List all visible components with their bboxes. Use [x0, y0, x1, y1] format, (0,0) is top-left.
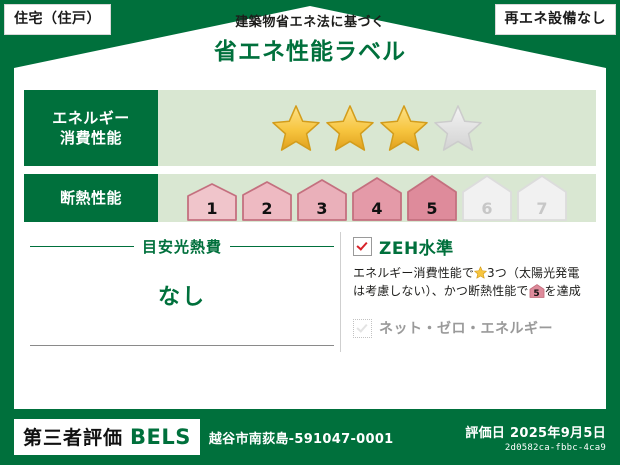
insulation-level-1: 1 [186, 182, 238, 222]
zeh-checkbox[interactable] [353, 237, 372, 256]
evaluation-date-line: 評価日 2025年9月5日 [465, 422, 606, 441]
insulation-performance-label: 断熱性能 [24, 174, 158, 222]
cost-rule-left [30, 246, 134, 247]
zeh-desc-part3: は考慮しない）、かつ断熱性能で [353, 284, 529, 298]
evaluation-id: 2d0582ca-fbbc-4ca9 [465, 443, 606, 453]
star-icon-filled-3 [379, 104, 429, 152]
net-zero-energy-checkbox[interactable] [353, 319, 372, 338]
property-address: 越谷市南荻島-591047-0001 [209, 428, 394, 447]
insulation-level-3: 3 [296, 178, 348, 222]
star-icon-empty-4 [433, 104, 483, 152]
net-zero-energy-row: ネット・ゼロ・エネルギー [353, 318, 592, 338]
renewable-energy-tag: 再エネ設備なし [495, 4, 617, 35]
building-type-tag: 住宅（住戸） [4, 4, 111, 35]
star-icon-filled-2 [325, 104, 375, 152]
bels-badge: 第三者評価 BELS [14, 419, 200, 455]
insulation-level-6: 6 [461, 174, 513, 222]
star-icon-filled-1 [271, 104, 321, 152]
footer-bar: 第三者評価 BELS 越谷市南荻島-591047-0001 評価日 2025年9… [0, 409, 620, 465]
insulation-level-scale: 1 2 3 [186, 174, 568, 222]
evaluation-meta: 評価日 2025年9月5日 2d0582ca-fbbc-4ca9 [465, 422, 606, 453]
star-rating [271, 104, 483, 152]
cost-rule-right [230, 246, 334, 247]
zeh-panel: ZEH水準 エネルギー消費性能で3つ（太陽光発電は考慮しない）、かつ断熱性能で … [340, 232, 596, 352]
evaluation-date-label: 評価日 [465, 426, 505, 441]
bels-logo-text: BELS [130, 425, 191, 449]
zeh-standard-label: ZEH水準 [379, 234, 454, 259]
insulation-badge-inline-number: 5 [529, 290, 545, 299]
utility-cost-value: なし [24, 279, 340, 311]
zeh-standard-row: ZEH水準 [353, 234, 592, 259]
energy-label-line1: エネルギー [52, 109, 130, 127]
insulation-level-2: 2 [241, 180, 293, 222]
zeh-description: エネルギー消費性能で3つ（太陽光発電は考慮しない）、かつ断熱性能で 5 を達成 [353, 264, 592, 300]
third-party-eval-label: 第三者評価 [23, 423, 123, 450]
insulation-level-7: 7 [516, 174, 568, 222]
insulation-level-4: 4 [351, 176, 403, 222]
star-icon-inline [474, 266, 487, 279]
energy-performance-row: エネルギー 消費性能 [24, 90, 596, 166]
zeh-desc-part1: エネルギー消費性能で [353, 266, 474, 280]
utility-cost-header: 目安光熱費 [24, 236, 340, 257]
net-zero-energy-label: ネット・ゼロ・エネルギー [379, 318, 553, 338]
energy-performance-label: エネルギー 消費性能 [24, 90, 158, 166]
energy-performance-value [158, 90, 596, 166]
evaluation-date-value: 2025年9月5日 [510, 426, 606, 441]
bels-energy-label: 住宅（住戸） 再エネ設備なし 建築物省エネ法に基づく 省エネ性能ラベル エネルギ… [0, 0, 620, 465]
insulation-level-5: 5 [406, 174, 458, 222]
cost-bottom-divider [30, 345, 334, 346]
insulation-performance-row: 断熱性能 1 2 [24, 174, 596, 222]
zeh-desc-part4: を達成 [545, 284, 581, 298]
utility-cost-panel: 目安光熱費 なし [24, 232, 340, 352]
energy-label-line2: 消費性能 [60, 129, 122, 147]
main-panel: エネルギー 消費性能 [14, 82, 606, 409]
bels-logo: BELS [130, 425, 191, 449]
utility-cost-title: 目安光熱費 [142, 236, 222, 257]
lower-section: 目安光熱費 なし ZEH水準 エネルギー消費性能で3つ（太陽光発電は考慮しない）… [24, 232, 596, 352]
zeh-desc-part2: 3つ（太陽光発電 [487, 266, 579, 280]
insulation-badge-inline: 5 [529, 284, 545, 298]
insulation-performance-value: 1 2 3 [158, 174, 596, 222]
